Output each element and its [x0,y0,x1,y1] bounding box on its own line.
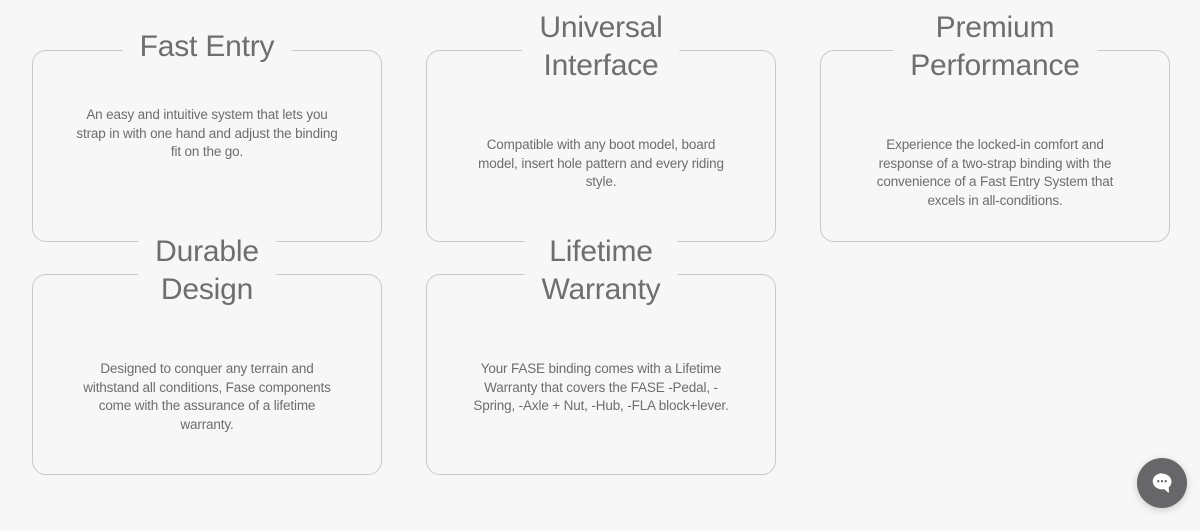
feature-card-body: An easy and intuitive system that lets y… [74,106,340,162]
feature-card-body: Your FASE binding comes with a Lifetime … [468,360,734,416]
feature-card-title: Universal Interface [522,9,679,85]
feature-card-title: Premium Performance [893,9,1097,85]
chat-bubble-ellipsis-icon [1148,469,1176,497]
feature-card-body: Experience the locked-in comfort and res… [862,136,1128,210]
feature-card-title: Lifetime Warranty [525,233,678,309]
feature-card-fast-entry: Fast Entry An easy and intuitive system … [32,50,382,242]
chat-launcher-button[interactable] [1137,458,1187,508]
feature-card-lifetime-warranty: Lifetime Warranty Your FASE binding come… [426,274,776,475]
feature-card-body: Designed to conquer any terrain and with… [74,360,340,434]
feature-card-grid: Fast Entry An easy and intuitive system … [0,0,1200,475]
feature-card-premium-performance: Premium Performance Experience the locke… [820,50,1170,242]
feature-card-title: Durable Design [138,233,276,309]
feature-card-title: Fast Entry [123,28,292,66]
feature-card-universal-interface: Universal Interface Compatible with any … [426,50,776,242]
feature-card-body: Compatible with any boot model, board mo… [468,136,734,192]
feature-card-durable-design: Durable Design Designed to conquer any t… [32,274,382,475]
